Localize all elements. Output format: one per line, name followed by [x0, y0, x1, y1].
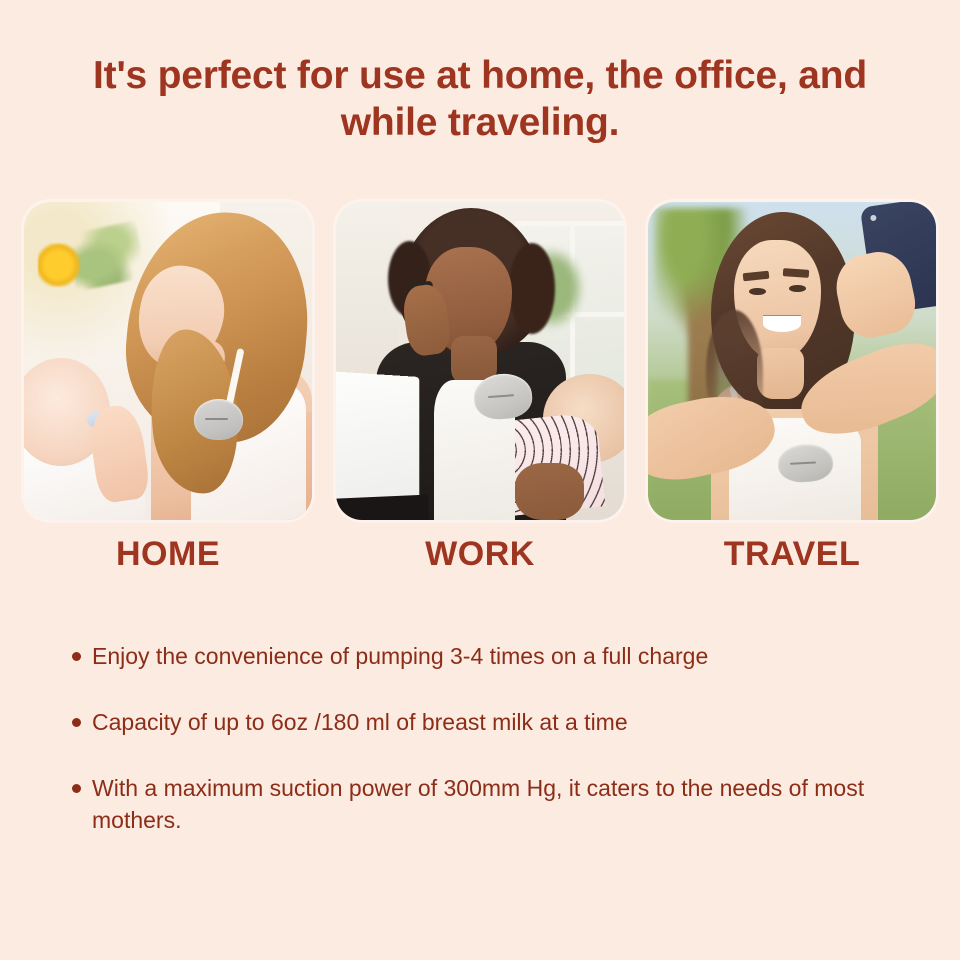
photo-caption-row: HOME WORK TRAVEL — [24, 535, 936, 574]
page-title-line-2: while traveling. — [341, 101, 620, 144]
caption-work: WORK — [336, 535, 624, 574]
feature-list: Enjoy the convenience of pumping 3-4 tim… — [72, 640, 902, 870]
bullet-dot-icon — [72, 718, 81, 727]
photo-card-work — [336, 202, 624, 520]
list-item: Capacity of up to 6oz /180 ml of breast … — [72, 706, 902, 738]
photo-travel — [648, 202, 936, 520]
travel-woman-neck — [757, 348, 803, 399]
feature-text: Capacity of up to 6oz /180 ml of breast … — [92, 706, 628, 738]
photo-card-travel — [648, 202, 936, 520]
list-item: Enjoy the convenience of pumping 3-4 tim… — [72, 640, 902, 672]
caption-home: HOME — [24, 535, 312, 574]
work-laptop-icon — [336, 370, 420, 520]
feature-text: With a maximum suction power of 300mm Hg… — [92, 772, 902, 836]
caption-travel: TRAVEL — [648, 535, 936, 574]
photo-work — [336, 202, 624, 520]
photo-home — [24, 202, 312, 520]
breast-pump-device-icon — [194, 399, 243, 440]
bullet-dot-icon — [72, 784, 81, 793]
feature-text: Enjoy the convenience of pumping 3-4 tim… — [92, 640, 708, 672]
home-yellow-flower — [38, 243, 80, 287]
page-title: It's perfect for use at home, the office… — [50, 52, 910, 146]
travel-woman-brow-right — [783, 268, 809, 277]
photo-card-row — [24, 202, 936, 520]
work-woman-holding-arm — [515, 463, 584, 520]
photo-card-home — [24, 202, 312, 520]
page-title-line-1: It's perfect for use at home, the office… — [93, 54, 867, 97]
list-item: With a maximum suction power of 300mm Hg… — [72, 772, 902, 836]
bullet-dot-icon — [72, 652, 81, 661]
